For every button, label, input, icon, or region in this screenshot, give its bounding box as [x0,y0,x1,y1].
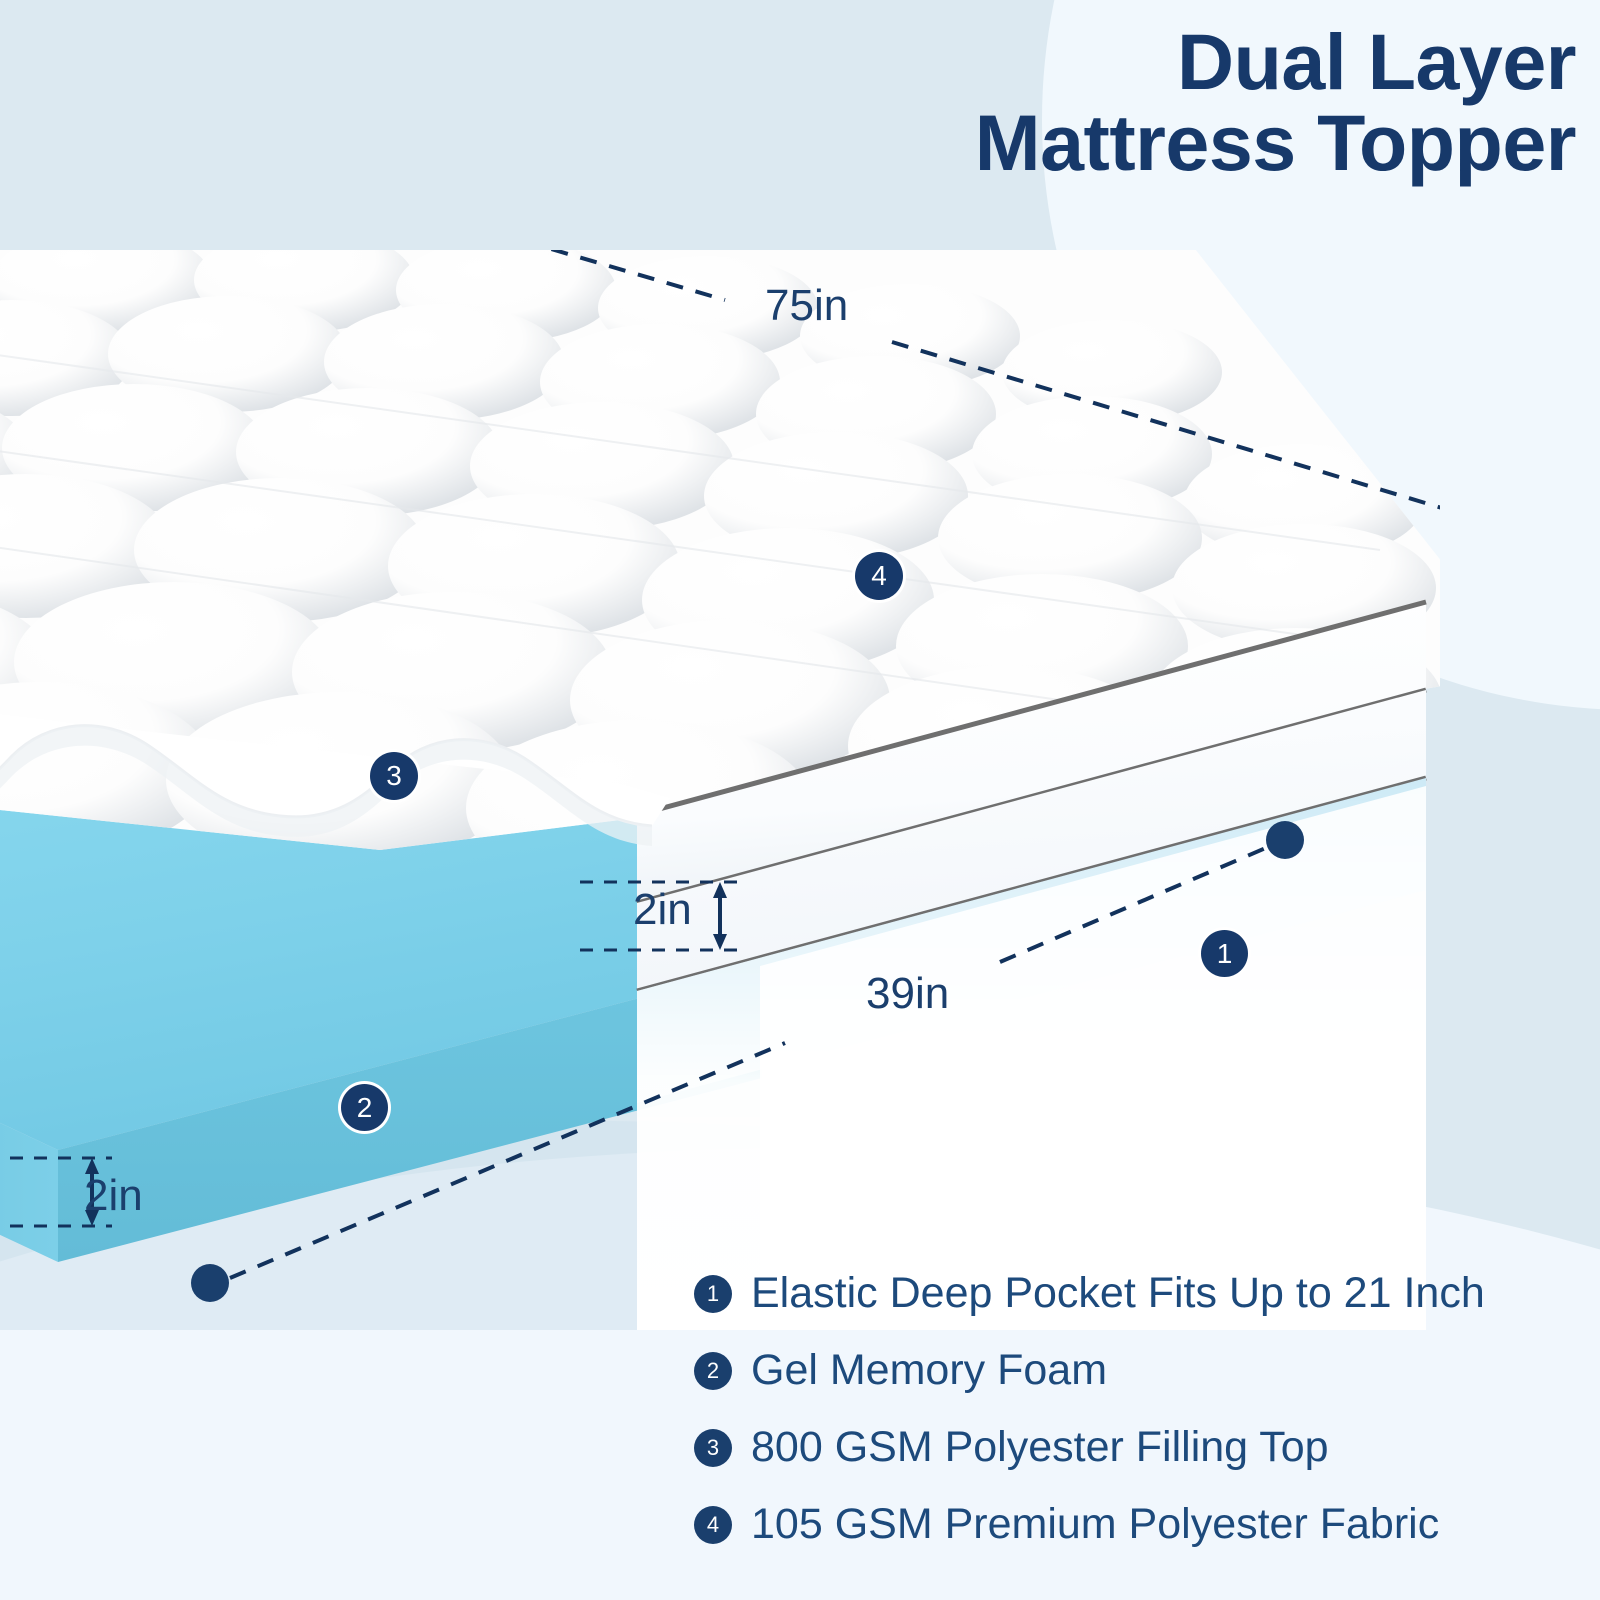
title-line-2: Mattress Topper [596,103,1576,184]
dimension-label-2in-top: 2in [633,885,692,935]
marker-3: 3 [370,752,418,800]
marker-1: 1 [1201,930,1248,977]
legend-label-2: Gel Memory Foam [751,1349,1107,1392]
legend-label-3: 800 GSM Polyester Filling Top [751,1426,1329,1469]
dimension-label-39in: 39in [866,969,949,1019]
dimension-label-75in: 75in [765,281,848,331]
legend-label-4: 105 GSM Premium Polyester Fabric [751,1503,1439,1546]
legend-item-4: 4 105 GSM Premium Polyester Fabric [694,1503,1584,1546]
product-illustration [0,250,1440,1330]
legend-badge-1: 1 [694,1275,732,1313]
marker-2: 2 [341,1084,388,1131]
legend-item-3: 3 800 GSM Polyester Filling Top [694,1426,1584,1469]
legend-badge-4: 4 [694,1506,732,1544]
title-line-1: Dual Layer [1177,17,1576,106]
legend-item-1: 1 Elastic Deep Pocket Fits Up to 21 Inch [694,1272,1584,1315]
dimension-label-2in-foam: 2in [84,1171,143,1221]
legend-item-2: 2 Gel Memory Foam [694,1349,1584,1392]
marker-4: 4 [855,552,903,600]
infographic-canvas: Dual Layer Mattress Topper [0,0,1600,1600]
legend-badge-2: 2 [694,1352,732,1390]
legend-badge-3: 3 [694,1429,732,1467]
page-title: Dual Layer Mattress Topper [596,22,1576,183]
feature-legend: 1 Elastic Deep Pocket Fits Up to 21 Inch… [694,1272,1584,1580]
legend-label-1: Elastic Deep Pocket Fits Up to 21 Inch [751,1272,1485,1315]
